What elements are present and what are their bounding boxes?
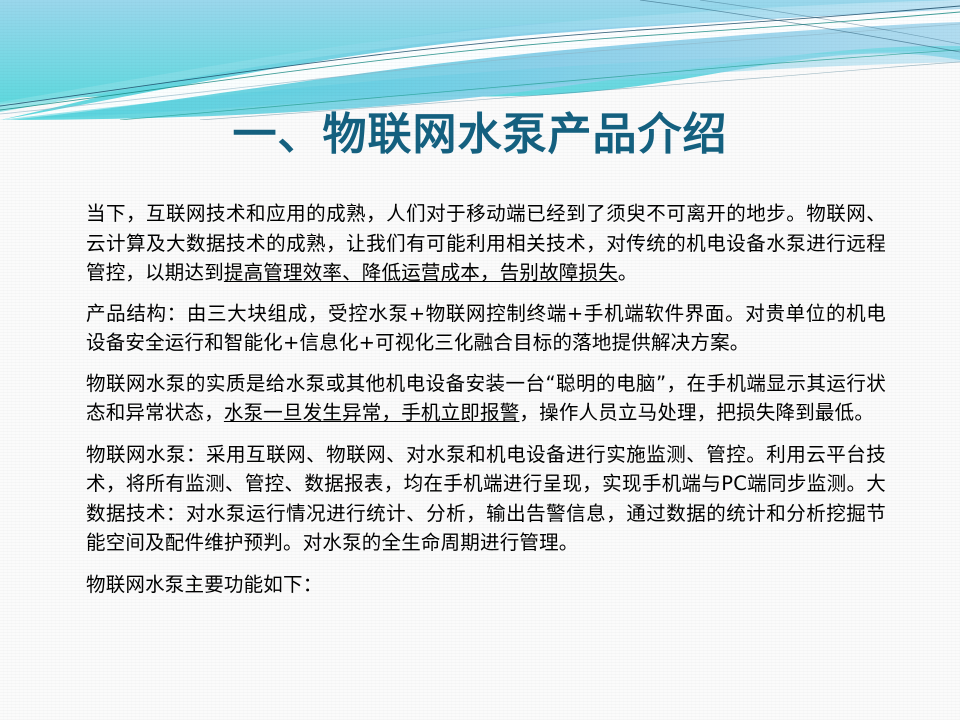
text-run: ，操作人员立马处理，把损失降到最低。 <box>519 401 874 424</box>
body-paragraph-5: 物联网水泵主要功能如下： <box>86 570 886 600</box>
presentation-slide: 一、物联网水泵产品介绍 当下，互联网技术和应用的成熟，人们对于移动端已经到了须臾… <box>0 0 960 720</box>
text-run: 产品结构：由三大块组成，受控水泵+物联网控制终端+手机端软件界面。对贵单位的机电… <box>86 302 886 355</box>
slide-title: 一、物联网水泵产品介绍 <box>0 108 960 162</box>
body-paragraph-2: 产品结构：由三大块组成，受控水泵+物联网控制终端+手机端软件界面。对贵单位的机电… <box>86 299 886 358</box>
text-run: 。 <box>618 261 638 284</box>
wave-banner-svg <box>0 0 960 120</box>
text-run-underlined: 水泵一旦发生异常，手机立即报警 <box>224 401 520 424</box>
body-paragraph-4: 物联网水泵：采用互联网、物联网、对水泵和机电设备进行实施监测、管控。利用云平台技… <box>86 440 886 558</box>
wave-banner-decoration <box>0 0 960 120</box>
text-run: 物联网水泵：采用互联网、物联网、对水泵和机电设备进行实施监测、管控。利用云平台技… <box>86 443 886 555</box>
text-run-underlined: 提高管理效率、降低运营成本，告别故障损失 <box>224 261 618 284</box>
slide-body: 当下，互联网技术和应用的成熟，人们对于移动端已经到了须臾不可离开的地步。物联网、… <box>86 199 886 599</box>
text-run: 物联网水泵主要功能如下： <box>86 573 322 596</box>
body-paragraph-3: 物联网水泵的实质是给水泵或其他机电设备安装一台“聪明的电脑”，在手机端显示其运行… <box>86 369 886 428</box>
body-paragraph-1: 当下，互联网技术和应用的成熟，人们对于移动端已经到了须臾不可离开的地步。物联网、… <box>86 199 886 288</box>
